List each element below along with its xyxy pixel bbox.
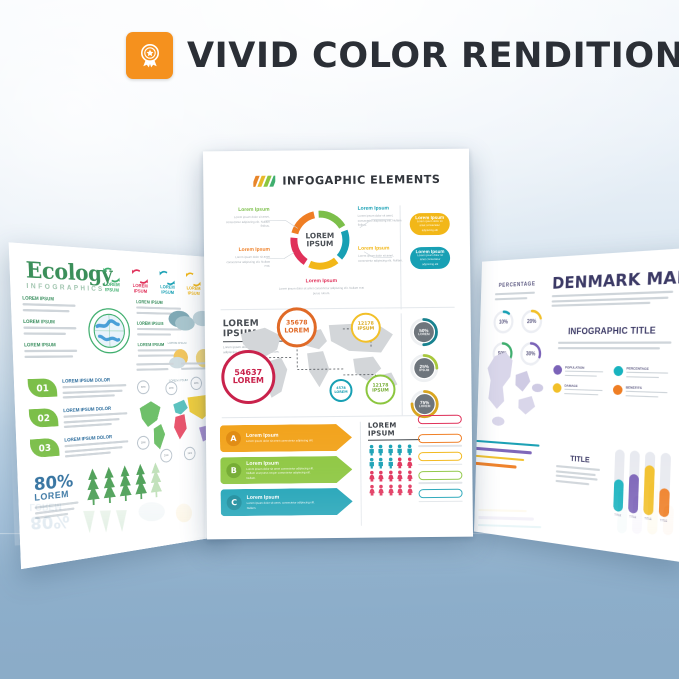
bar-line — [475, 447, 532, 454]
ecology-poster[interactable]: Ecology INFOGRAPHICS LOREM IPSUM LOREM I… — [9, 242, 227, 569]
percentage-body — [495, 292, 535, 303]
recycle-label-2: IPSUM — [105, 288, 119, 294]
bar-line — [474, 462, 516, 468]
chart-caption: TITLE — [555, 454, 604, 489]
legend-item: DAMAGE — [552, 383, 604, 399]
tube-bar: TITLE — [643, 451, 655, 521]
arrow-banner-c[interactable]: C Lorem Ipsum Lorem ipsum dolor sit amet… — [221, 488, 353, 516]
pill-card-2[interactable]: Lorem Ipsum Lorem ipsum dolor sit amet c… — [410, 247, 450, 269]
outline-bar-item — [418, 415, 462, 429]
banner-letter-b: B — [226, 463, 241, 478]
globe-callout-left-1: LOREM IPSUM — [22, 295, 80, 315]
arrow-banner-group: A Lorem Ipsum Lorem ipsum dolor sit amet… — [220, 424, 353, 521]
legend-group: POPULATION PERCENTAGE DAMAGE BENEFITS — [552, 365, 677, 401]
legend-item: PERCENTAGE — [613, 366, 670, 382]
donut-callout-5: Lorem Ipsum Lorem ipsum dolor sit amet c… — [278, 278, 364, 296]
legend-dot — [553, 383, 562, 393]
chart-title: TITLE — [556, 454, 604, 466]
outline-bar-item — [419, 489, 463, 503]
arrow-banner-b[interactable]: B Lorem Ipsum Lorem ipsum dolor sit amet… — [220, 456, 352, 484]
recycle-icon-row: LOREM IPSUM LOREM IPSUM LOREM IPSUM LORE… — [101, 267, 202, 297]
infographic-title-body — [558, 341, 674, 351]
denmark-body — [551, 291, 675, 310]
banner-letter-a: A — [226, 431, 241, 446]
percentage-heading: PERCENTAGE — [499, 281, 536, 289]
legend-dot — [553, 365, 562, 375]
callout-connectors — [264, 213, 395, 274]
recycle-icon-item: LOREM IPSUM — [101, 267, 122, 294]
poster-title: INFOGAPHIC ELEMENTS — [282, 173, 440, 188]
poster-header: INFOGAPHIC ELEMENTS — [253, 173, 440, 188]
recycle-icon-item: LOREM IPSUM — [130, 268, 150, 294]
award-badge-icon — [126, 32, 173, 79]
tree-icon-row — [86, 460, 163, 507]
people-row — [368, 444, 420, 456]
outline-bar-group — [418, 415, 463, 508]
people-row — [368, 484, 420, 496]
map-percent-callout: 15% — [184, 446, 196, 460]
denmark-map-poster[interactable]: DENMARK MAP INFOGRAPHIC TITLE PERCENTAGE… — [474, 248, 679, 563]
eco-text-block-1 — [136, 363, 174, 373]
leaf-number-badge: 03 — [30, 438, 60, 459]
percent-ring: 10% — [492, 309, 515, 335]
denmark-map-shape — [480, 346, 552, 441]
recycle-label-2: IPSUM — [188, 291, 200, 296]
recycle-label-2: IPSUM — [161, 290, 174, 296]
pill-card-1[interactable]: Lorem Ipsum Lorem ipsum dolor sit amet c… — [410, 213, 450, 235]
legend-dot — [613, 366, 623, 376]
map-marker-12178-yellow[interactable]: 12178 IPSUM — [351, 313, 381, 343]
ecology-title: Ecology — [25, 258, 112, 288]
world-map: 35678 LOREM 54637 LOREM 12178 IPSUM 4578… — [225, 314, 408, 408]
arrow-banner-a[interactable]: A Lorem Ipsum Lorem ipsum dolor sit amet… — [220, 424, 352, 452]
leaf-item-3: 03 LOREM IPSUM DOLOR — [30, 433, 129, 464]
tube-bar: TITLE — [613, 449, 625, 518]
outline-bar-item — [418, 452, 462, 466]
people-pictogram-chart: LOREM IPSUM — [368, 421, 421, 497]
percent-ring-column: 50% LOREM 25% IPSUM 75% LOREM — [409, 317, 440, 419]
leaf-number-badge: 01 — [28, 378, 58, 397]
tube-bar: TITLE — [659, 453, 672, 524]
recycle-label-2: IPSUM — [134, 289, 148, 295]
denmark-title: DENMARK MAP — [552, 267, 679, 293]
map-marker-4578[interactable]: 4578 LOREM — [329, 379, 352, 402]
percent-ring: 20% — [520, 308, 544, 335]
tube-bar: TITLE — [628, 450, 640, 519]
reflective-floor — [0, 535, 679, 679]
bar-line-group — [474, 440, 539, 471]
people-row — [368, 471, 420, 483]
bar-line — [474, 455, 524, 462]
leaf-item-2: 02 LOREM IPSUM DOLOR — [29, 405, 128, 434]
recycle-icon-item: LOREM IPSUM — [184, 272, 202, 297]
globe-callout-left-3: LOREM IPSUM — [24, 342, 82, 361]
donut-callout-2: Lorem Ipsum Lorem ipsum dolor sit amet c… — [220, 247, 270, 269]
infographic-elements-poster[interactable]: INFOGAPHIC ELEMENTS — [203, 149, 473, 540]
horizontal-divider — [221, 307, 455, 310]
legend-item: BENEFITS — [613, 385, 670, 401]
percent-ring-25: 25% IPSUM — [409, 353, 439, 383]
tube-bar-chart: TITLE TITLE TITLE TITLE — [613, 448, 671, 523]
people-row — [368, 457, 420, 469]
header: VIVID COLOR RENDITION — [126, 32, 679, 79]
leaf-item-1: 01 LOREM IPSUM DOLOR — [28, 376, 127, 402]
legend-item: POPULATION — [553, 365, 605, 380]
infographic-title-heading: INFOGRAPHIC TITLE — [568, 325, 656, 336]
slanted-stripes-logo — [253, 176, 275, 187]
map-marker-12178-green[interactable]: 12178 IPSUM — [365, 374, 395, 404]
outline-bar-item — [418, 470, 462, 484]
leaf-number-badge: 02 — [29, 408, 59, 428]
tree-stat: 80% LOREM — [34, 472, 79, 522]
vertical-divider-3 — [360, 422, 362, 526]
map-marker-54637[interactable]: 54637 LOREM — [221, 350, 276, 405]
map-percent-callout: 20% — [160, 448, 172, 463]
recycle-icon-item: LOREM IPSUM — [158, 270, 177, 296]
legend-dot — [613, 385, 623, 395]
percent-ring-50: 50% LOREM — [409, 317, 439, 347]
promo-image: VIVID COLOR RENDITION Ecology INFOGRAPHI… — [0, 0, 679, 679]
donut-callout-1: Lorem Ipsum Lorem ipsum dolor sit amet, … — [220, 207, 270, 229]
outline-bar-item — [418, 433, 462, 447]
banner-letter-c: C — [227, 495, 242, 510]
map-marker-35678[interactable]: 35678 LOREM — [277, 307, 317, 347]
people-chart-heading: LOREM IPSUM — [368, 421, 420, 441]
globe-icon — [86, 306, 132, 355]
bar-line — [475, 440, 540, 447]
page-title: VIVID COLOR RENDITION — [187, 36, 679, 76]
globe-callout-left-2: LOREM IPSUM — [23, 318, 81, 337]
